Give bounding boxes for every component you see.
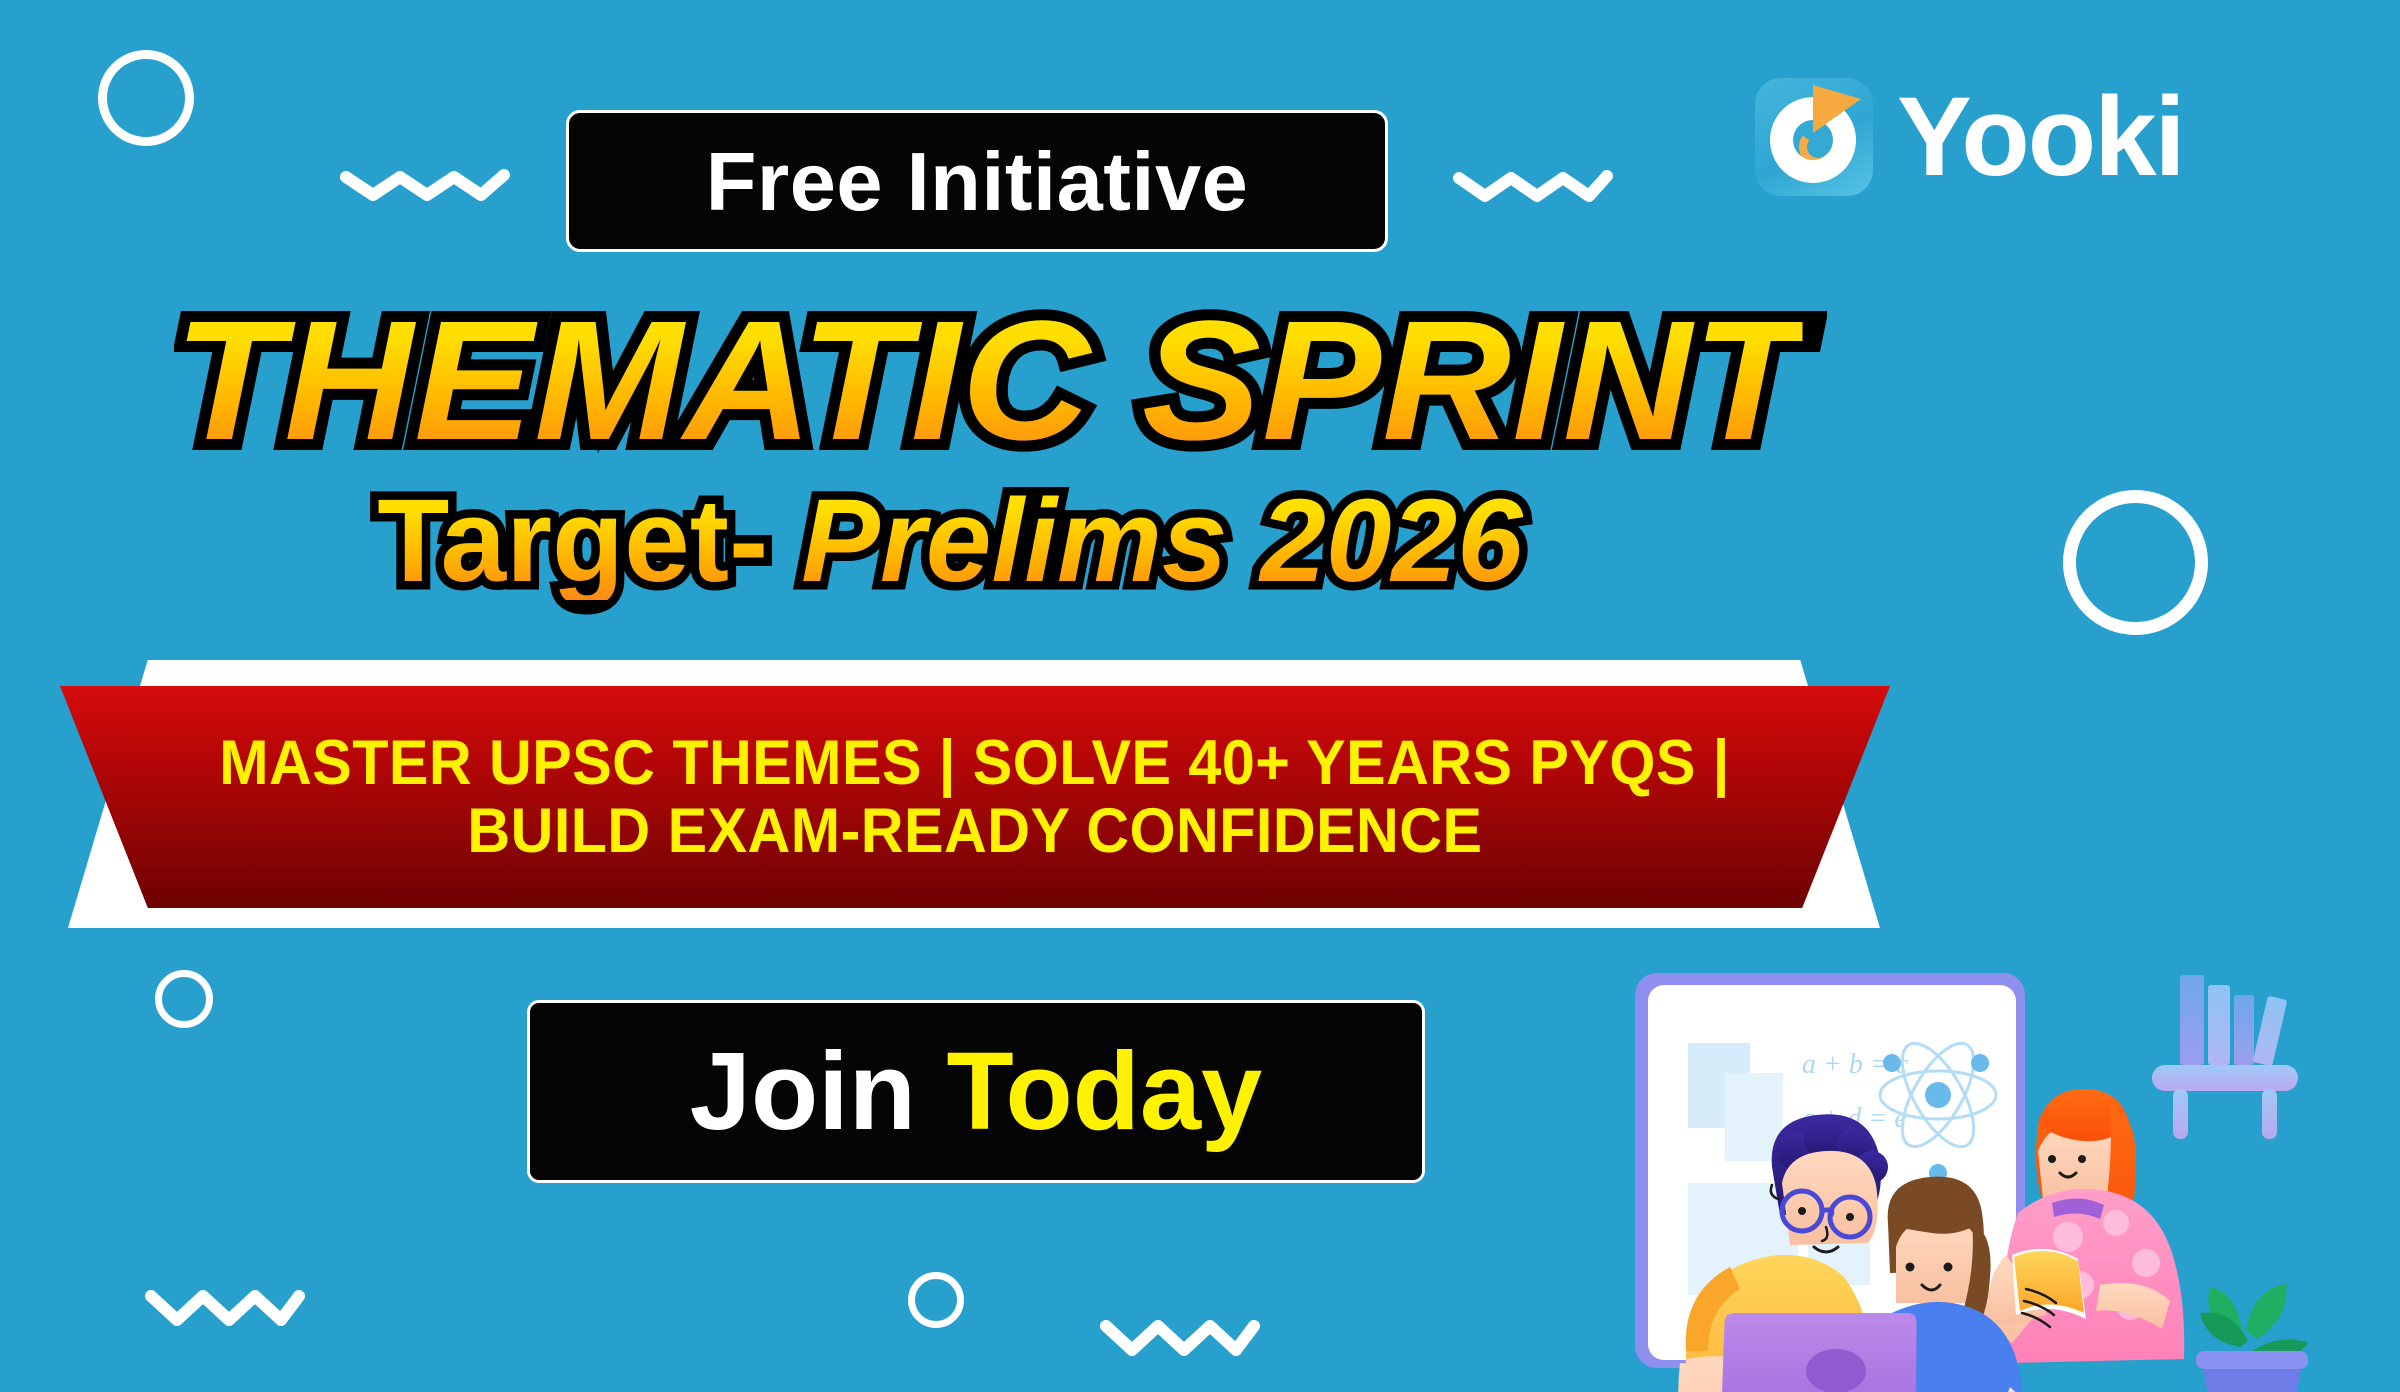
page-subtitle: Target- Prelims 2026 Target- Prelims 202… <box>377 482 1523 600</box>
ring-top-left-icon <box>98 50 194 146</box>
ribbon-red-band: MASTER UPSC THEMES | SOLVE 40+ YEARS PYQ… <box>60 686 1890 908</box>
ring-bottom-icon <box>908 1272 964 1328</box>
wall-shelf-books <box>2152 975 2298 1139</box>
zigzag-bottom-right-icon <box>1100 1318 1260 1360</box>
purple-laptop <box>1720 1313 1946 1392</box>
ribbon-line-2: BUILD EXAM-READY CONFIDENCE <box>467 797 1482 865</box>
join-today-button[interactable]: Join Today <box>527 1000 1425 1183</box>
page-title: THEMATIC SPRINT THEMATIC SPRINT <box>174 296 1725 466</box>
feature-ribbon: MASTER UPSC THEMES | SOLVE 40+ YEARS PYQ… <box>60 660 1890 932</box>
zigzag-bottom-left-icon <box>145 1288 305 1330</box>
students-studying-illustration: a + b = c c + d = e <box>1540 955 2400 1392</box>
ring-right-icon <box>2063 490 2208 635</box>
potted-plant <box>2196 1283 2308 1392</box>
yooki-wordmark: Yooki <box>1897 81 2184 193</box>
free-initiative-badge: Free Initiative <box>566 110 1388 252</box>
ring-left-icon <box>155 970 213 1028</box>
page-subtitle-fill: Target- Prelims 2026 <box>377 482 1523 600</box>
logo-triangle-icon <box>1813 85 1861 133</box>
cta-label-join: Join <box>690 1037 947 1147</box>
cta-label-today: Today <box>946 1037 1262 1147</box>
zigzag-top-left-icon <box>340 165 510 203</box>
free-initiative-label: Free Initiative <box>706 140 1249 223</box>
headline-block: THEMATIC SPRINT THEMATIC SPRINT Target- … <box>0 296 1900 600</box>
ribbon-line-1: MASTER UPSC THEMES | SOLVE 40+ YEARS PYQ… <box>220 729 1731 797</box>
page-title-fill: THEMATIC SPRINT <box>174 296 1803 466</box>
orange-book <box>2012 1249 2086 1319</box>
zigzag-top-right-icon <box>1453 168 1613 204</box>
promo-banner: Free Initiative Yooki THEMATIC SPRINT TH… <box>0 0 2400 1392</box>
yooki-logo: Yooki <box>1755 78 2184 196</box>
yooki-ring-arrow-icon <box>1755 78 1873 196</box>
illustration-svg: a + b = c c + d = e <box>1540 955 2400 1392</box>
